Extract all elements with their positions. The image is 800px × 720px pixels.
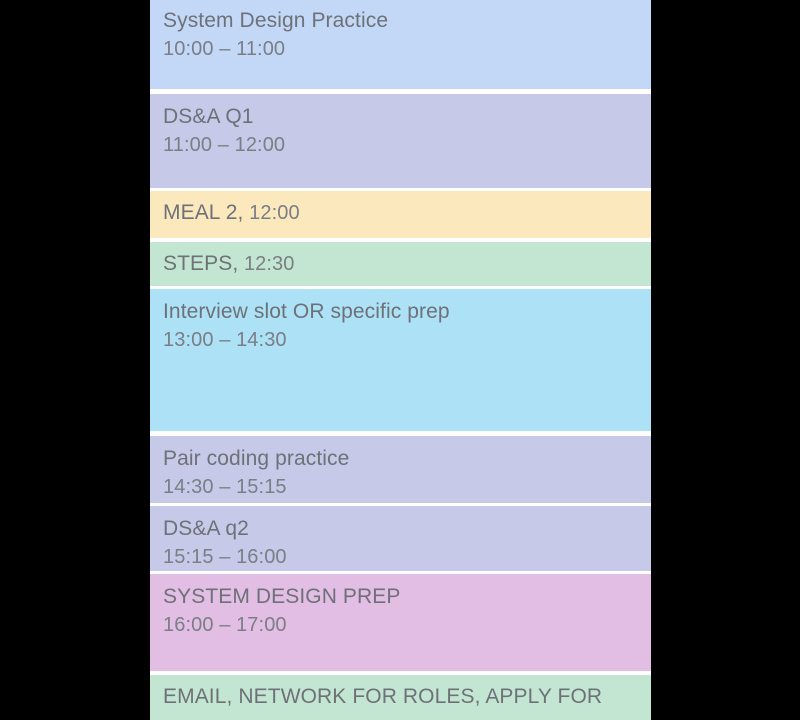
event-title: DS&A q2 [163,514,651,543]
event-time: 11:00 – 12:00 [163,131,651,160]
calendar-day-column: System Design Practice10:00 – 11:00DS&A … [150,0,651,720]
event-time: 12:30 [238,253,294,275]
event-dsa-q1[interactable]: DS&A Q111:00 – 12:00 [150,94,651,188]
event-system-design-prep[interactable]: SYSTEM DESIGN PREP16:00 – 17:00 [150,574,651,671]
event-title: SYSTEM DESIGN PREP [163,582,651,611]
event-meal-2[interactable]: MEAL 2, 12:00 [150,191,651,238]
event-dsa-q2[interactable]: DS&A q215:15 – 16:00 [150,506,651,571]
event-email-network[interactable]: EMAIL, NETWORK FOR ROLES, APPLY FOR [150,675,651,720]
event-interview-slot[interactable]: Interview slot OR specific prep13:00 – 1… [150,289,651,431]
event-time: 13:00 – 14:30 [163,326,651,355]
event-title: MEAL 2, [163,201,243,224]
event-title: EMAIL, NETWORK FOR ROLES, APPLY FOR [163,685,602,708]
event-title: System Design Practice [163,6,651,35]
event-time: 15:15 – 16:00 [163,543,651,571]
event-title: Pair coding practice [163,444,651,473]
event-time: 16:00 – 17:00 [163,611,651,640]
event-title: Interview slot OR specific prep [163,297,651,326]
event-time: 12:00 [243,202,299,224]
event-system-design-practice[interactable]: System Design Practice10:00 – 11:00 [150,0,651,89]
event-time: 14:30 – 15:15 [163,473,651,502]
event-time: 10:00 – 11:00 [163,35,651,64]
event-title: DS&A Q1 [163,102,651,131]
event-pair-coding-practice[interactable]: Pair coding practice14:30 – 15:15 [150,436,651,503]
event-steps[interactable]: STEPS, 12:30 [150,242,651,286]
screen: System Design Practice10:00 – 11:00DS&A … [0,0,800,720]
event-title: STEPS, [163,252,238,275]
